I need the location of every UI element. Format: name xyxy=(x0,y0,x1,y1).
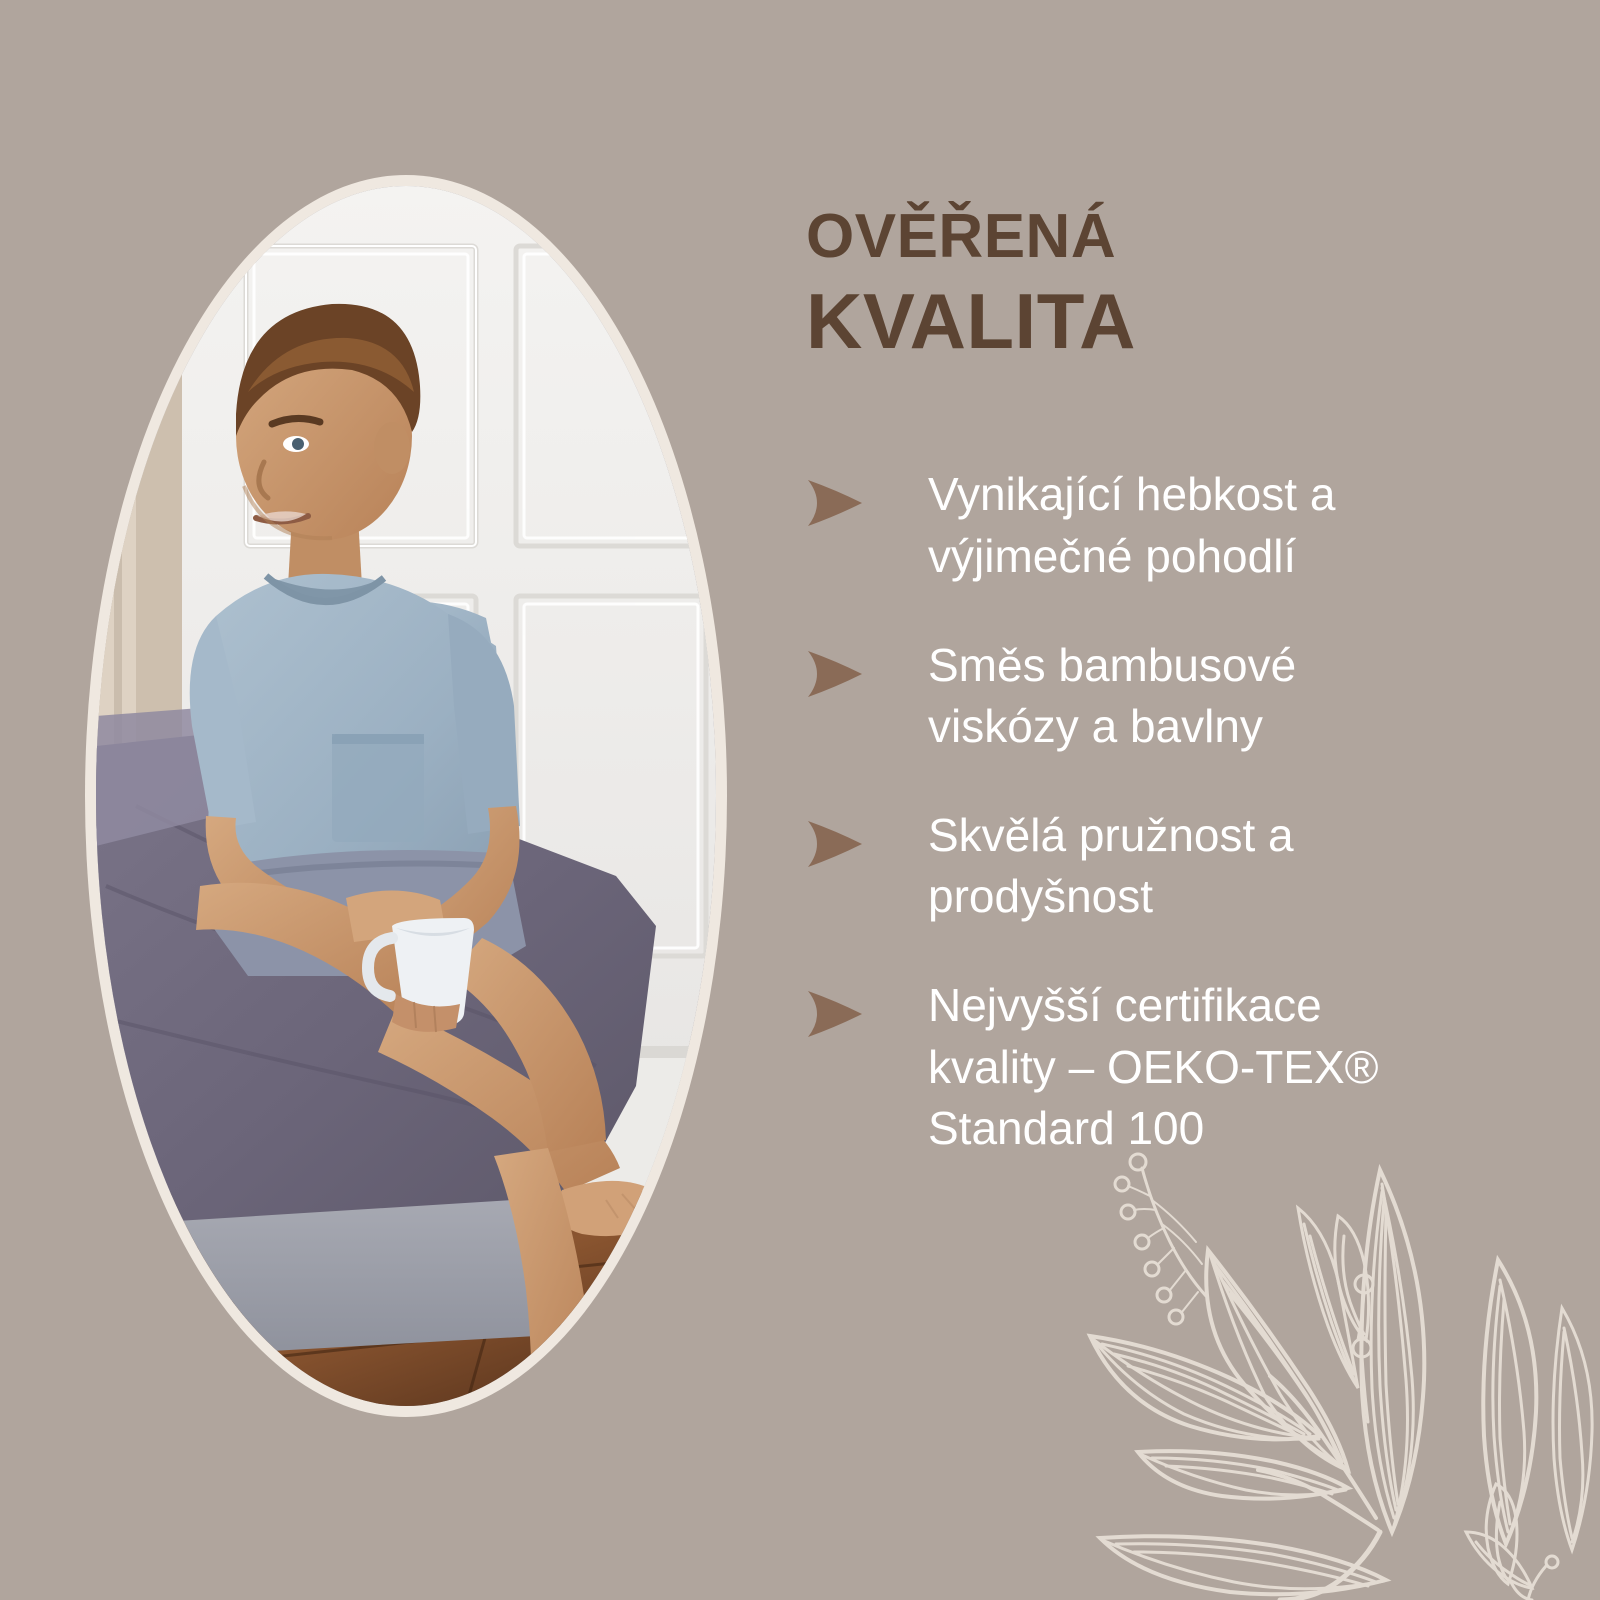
arrow-right-icon xyxy=(806,975,876,1039)
botanical-leaves-illustration xyxy=(1080,1140,1600,1600)
arrow-right-icon xyxy=(806,464,876,528)
benefit-item-4: Nejvyšší certifikace kvality – OEKO-TEX®… xyxy=(806,975,1526,1159)
arrow-right-icon xyxy=(806,805,876,869)
benefit-text-3: Skvělá pružnost a prodyšnost xyxy=(876,805,1526,927)
infographic-canvas: OVĚŘENÁ KVALITA Vynikající hebkost a výj… xyxy=(0,0,1600,1600)
benefit-text-2: Směs bambusové viskózy a bavlny xyxy=(876,635,1526,757)
headline-line-2: KVALITA xyxy=(806,282,1526,360)
lifestyle-photo xyxy=(96,186,716,1406)
headline-line-1: OVĚŘENÁ xyxy=(806,206,1526,268)
page-title: OVĚŘENÁ KVALITA xyxy=(806,206,1526,360)
photo-oval-frame xyxy=(85,175,727,1417)
benefit-item-2: Směs bambusové viskózy a bavlny xyxy=(806,635,1526,757)
content-column: OVĚŘENÁ KVALITA Vynikající hebkost a výj… xyxy=(806,185,1526,1159)
benefit-item-3: Skvělá pružnost a prodyšnost xyxy=(806,805,1526,927)
benefit-text-1: Vynikající hebkost a výjimečné pohodlí xyxy=(876,464,1526,586)
photo-clip xyxy=(96,186,716,1406)
benefits-list: Vynikající hebkost a výjimečné pohodlí S… xyxy=(806,464,1526,1159)
benefit-text-4: Nejvyšší certifikace kvality – OEKO-TEX®… xyxy=(876,975,1526,1159)
arrow-right-icon xyxy=(806,635,876,699)
benefit-item-1: Vynikající hebkost a výjimečné pohodlí xyxy=(806,464,1526,586)
